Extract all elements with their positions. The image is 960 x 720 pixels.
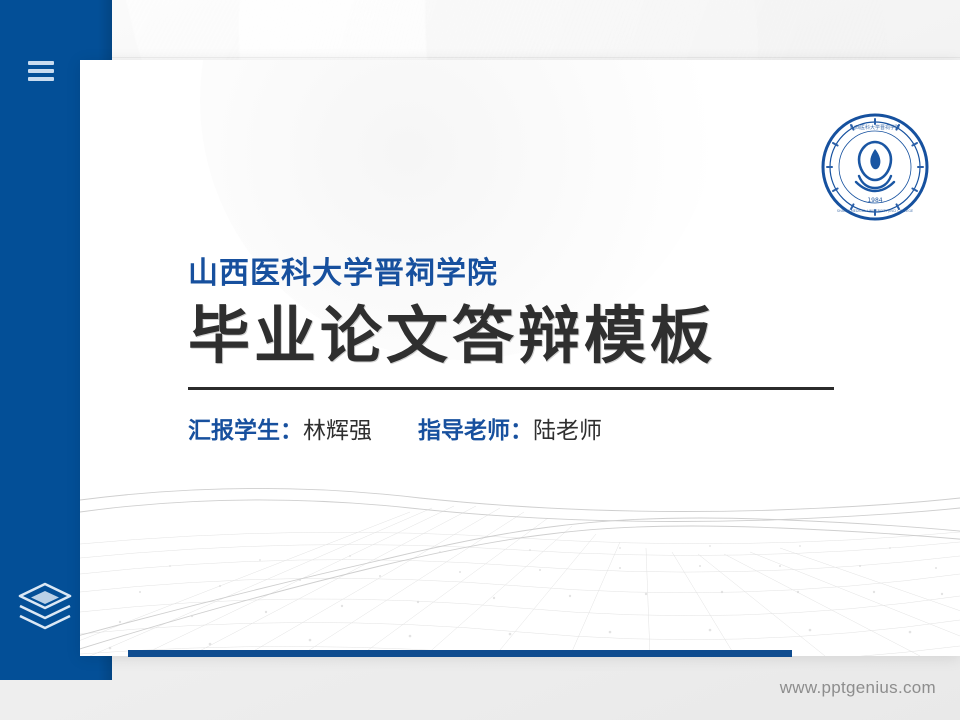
presenter-name: 林辉强 (303, 417, 372, 443)
title-text-block: 山西医科大学晋祠学院 毕业论文答辩模板 汇报学生：林辉强指导老师：陆老师 (188, 256, 888, 446)
hamburger-bar (28, 61, 54, 65)
page-title: 毕业论文答辩模板 (188, 302, 888, 371)
advisor-name: 陆老师 (533, 417, 602, 443)
svg-text:1984: 1984 (867, 197, 882, 204)
background-hairline (0, 57, 960, 58)
title-divider (188, 387, 834, 390)
school-name: 山西医科大学晋祠学院 (188, 256, 888, 292)
presenter-label: 汇报学生： (188, 417, 303, 443)
hamburger-bar (28, 77, 54, 81)
svg-text:SHANXI MEDICAL UNIVERSITY JINC: SHANXI MEDICAL UNIVERSITY JINCI COLLEGE (837, 209, 913, 213)
hamburger-menu-icon[interactable] (28, 61, 54, 81)
stacked-layers-icon[interactable] (14, 580, 76, 632)
svg-text:山西医科大学晋祠学院: 山西医科大学晋祠学院 (850, 124, 900, 131)
university-seal-logo: 山西医科大学晋祠学院 1984 SHANXI MEDICAL UNIVERSIT… (820, 112, 930, 222)
footer-url[interactable]: www.pptgenius.com (780, 678, 936, 698)
advisor-label: 指导老师： (418, 417, 533, 443)
presentation-slide: 山西医科大学晋祠学院 毕业论文答辩模板 汇报学生：林辉强指导老师：陆老师 山西医… (0, 0, 960, 720)
byline: 汇报学生：林辉强指导老师：陆老师 (188, 416, 888, 446)
wireframe-mesh-decoration (80, 416, 960, 656)
hamburger-bar (28, 69, 54, 73)
bottom-accent-bar (128, 650, 792, 657)
